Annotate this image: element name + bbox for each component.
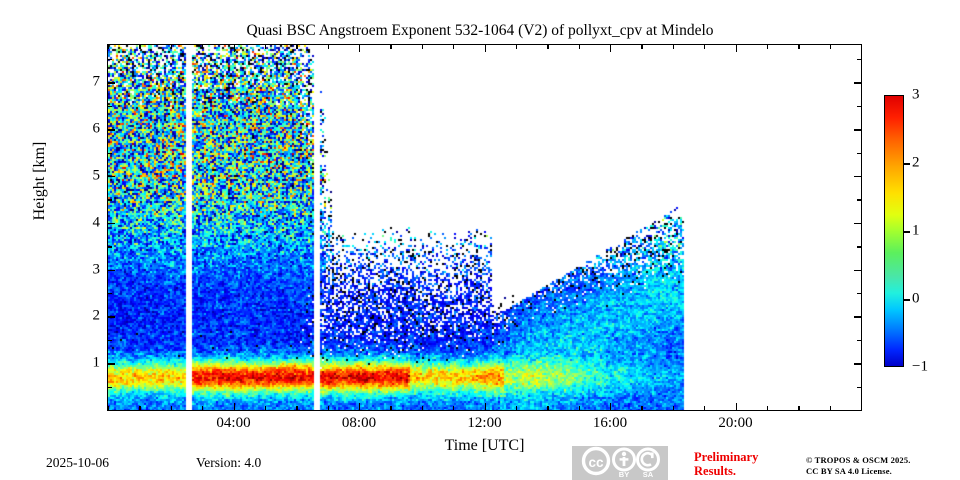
x-minor-tick-top xyxy=(422,45,423,49)
x-minor-tick-top xyxy=(108,45,109,49)
x-major-tick-top xyxy=(359,45,360,52)
y-major-tick-right xyxy=(854,223,861,224)
x-major-tick-top xyxy=(610,45,611,52)
footer-version: Version: 4.0 xyxy=(196,455,261,471)
x-major-tick-top xyxy=(736,45,737,52)
x-minor-tick-top xyxy=(767,45,768,49)
x-tick-label: 04:00 xyxy=(216,415,250,432)
x-minor-tick xyxy=(704,406,705,410)
x-major-tick xyxy=(610,403,611,410)
x-major-tick-top xyxy=(485,45,486,52)
colorbar-tick xyxy=(904,231,910,233)
x-minor-tick-top xyxy=(861,45,862,49)
sa-label: SA xyxy=(643,470,654,479)
y-major-tick-right xyxy=(854,363,861,364)
x-minor-tick xyxy=(171,406,172,410)
x-minor-tick-top xyxy=(673,45,674,49)
copyright-line-1: © TROPOS & OSCM 2025. xyxy=(806,455,911,466)
preliminary-line-2: Results. xyxy=(694,464,758,478)
x-minor-tick xyxy=(453,406,454,410)
x-minor-tick xyxy=(547,406,548,410)
y-minor-tick-right xyxy=(857,199,861,200)
y-minor-tick xyxy=(108,340,112,341)
y-minor-tick xyxy=(108,153,112,154)
x-minor-tick xyxy=(328,406,329,410)
y-tick-label: 4 xyxy=(82,214,100,231)
cc-license-badge[interactable]: cc BY SA xyxy=(572,446,668,480)
x-minor-tick xyxy=(390,406,391,410)
x-minor-tick xyxy=(673,406,674,410)
x-minor-tick xyxy=(422,406,423,410)
y-major-tick-right xyxy=(854,270,861,271)
x-minor-tick xyxy=(798,406,799,410)
y-minor-tick-right xyxy=(857,59,861,60)
x-minor-tick xyxy=(265,406,266,410)
y-tick-label: 5 xyxy=(82,168,100,185)
x-minor-tick xyxy=(108,406,109,410)
x-minor-tick xyxy=(861,406,862,410)
copyright-line-2: CC BY SA 4.0 License. xyxy=(806,466,911,477)
page-title: Quasi BSC Angstroem Exponent 532-1064 (V… xyxy=(0,22,960,40)
y-minor-tick xyxy=(108,387,112,388)
x-minor-tick xyxy=(579,406,580,410)
y-minor-tick-right xyxy=(857,246,861,247)
x-minor-tick xyxy=(139,406,140,410)
y-tick-label: 1 xyxy=(82,355,100,372)
y-major-tick xyxy=(108,82,115,83)
x-major-tick xyxy=(736,403,737,410)
colorbar xyxy=(884,95,904,367)
cc-glyph-text: cc xyxy=(588,455,604,470)
x-minor-tick-top xyxy=(547,45,548,49)
x-minor-tick-top xyxy=(641,45,642,49)
x-minor-tick-top xyxy=(390,45,391,49)
x-major-tick xyxy=(485,403,486,410)
colorbar-tick xyxy=(904,163,910,165)
copyright-notice: © TROPOS & OSCM 2025. CC BY SA 4.0 Licen… xyxy=(806,455,911,477)
y-minor-tick-right xyxy=(857,153,861,154)
y-minor-tick xyxy=(108,246,112,247)
cc-badge-glyphs: cc BY SA xyxy=(572,446,668,480)
y-tick-label: 7 xyxy=(82,74,100,91)
x-tick-label: 08:00 xyxy=(342,415,376,432)
x-minor-tick-top xyxy=(798,45,799,49)
colorbar-tick-label: 2 xyxy=(912,155,920,172)
x-major-tick xyxy=(234,403,235,410)
y-tick-label: 6 xyxy=(82,121,100,138)
preliminary-line-1: Preliminary xyxy=(694,450,758,464)
x-minor-tick xyxy=(641,406,642,410)
x-minor-tick-top xyxy=(704,45,705,49)
y-minor-tick-right xyxy=(857,293,861,294)
y-major-tick xyxy=(108,363,115,364)
y-major-tick xyxy=(108,270,115,271)
y-major-tick xyxy=(108,223,115,224)
x-minor-tick xyxy=(202,406,203,410)
x-tick-label: 16:00 xyxy=(593,415,627,432)
x-minor-tick xyxy=(767,406,768,410)
colorbar-tick xyxy=(904,299,910,301)
x-major-tick xyxy=(359,403,360,410)
preliminary-notice: Preliminary Results. xyxy=(694,450,758,478)
x-minor-tick-top xyxy=(202,45,203,49)
y-major-tick xyxy=(108,176,115,177)
colorbar-tick-label: 1 xyxy=(912,223,920,240)
colorbar-tick-label: −1 xyxy=(912,359,928,376)
x-minor-tick-top xyxy=(516,45,517,49)
x-minor-tick-top xyxy=(296,45,297,49)
y-minor-tick-right xyxy=(857,106,861,107)
y-minor-tick xyxy=(108,59,112,60)
y-major-tick xyxy=(108,129,115,130)
y-major-tick-right xyxy=(854,176,861,177)
y-major-tick-right xyxy=(854,129,861,130)
x-minor-tick xyxy=(296,406,297,410)
y-minor-tick-right xyxy=(857,387,861,388)
y-minor-tick xyxy=(108,293,112,294)
x-minor-tick xyxy=(830,406,831,410)
heatmap-canvas xyxy=(108,45,861,410)
y-minor-tick xyxy=(108,199,112,200)
x-minor-tick-top xyxy=(171,45,172,49)
x-minor-tick xyxy=(516,406,517,410)
x-tick-label: 12:00 xyxy=(467,415,501,432)
x-minor-tick-top xyxy=(579,45,580,49)
x-minor-tick-top xyxy=(328,45,329,49)
footer-date: 2025-10-06 xyxy=(46,455,109,471)
by-label: BY xyxy=(619,470,629,479)
x-minor-tick-top xyxy=(830,45,831,49)
colorbar-tick-label: 0 xyxy=(912,291,920,308)
x-tick-label: 20:00 xyxy=(718,415,752,432)
x-minor-tick-top xyxy=(265,45,266,49)
y-minor-tick xyxy=(108,106,112,107)
y-tick-label: 3 xyxy=(82,261,100,278)
y-minor-tick-right xyxy=(857,340,861,341)
y-tick-label: 2 xyxy=(82,308,100,325)
y-axis-label: Height [km] xyxy=(31,96,49,266)
y-major-tick xyxy=(108,316,115,317)
plot-area xyxy=(107,44,862,411)
y-major-tick-right xyxy=(854,82,861,83)
colorbar-gradient xyxy=(884,95,904,367)
x-minor-tick-top xyxy=(453,45,454,49)
colorbar-tick-label: 3 xyxy=(912,87,920,104)
x-minor-tick-top xyxy=(139,45,140,49)
y-major-tick-right xyxy=(854,316,861,317)
chart-screenshot: Quasi BSC Angstroem Exponent 532-1064 (V… xyxy=(0,0,960,480)
x-major-tick-top xyxy=(234,45,235,52)
